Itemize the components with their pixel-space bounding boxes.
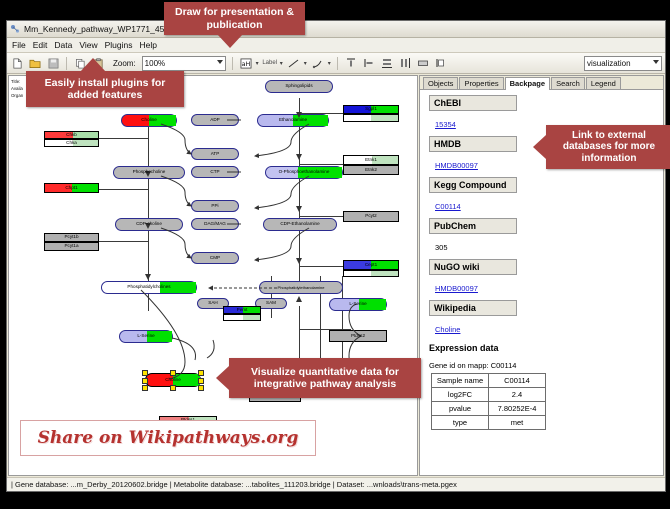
- chevron-down-icon: [217, 60, 223, 64]
- node-label: Ethanolamine: [279, 118, 307, 123]
- node-label: Etnk2: [365, 168, 377, 173]
- line-icon[interactable]: [287, 56, 301, 70]
- db-header-pubchem: PubChem: [429, 218, 517, 234]
- menu-edit[interactable]: Edit: [33, 40, 48, 50]
- callout-draw-arrow: [217, 34, 243, 48]
- cell-value: 7.80252E-4: [489, 402, 546, 416]
- node-label: Choline: [141, 118, 157, 123]
- chevron-down-icon-arc[interactable]: ▾: [328, 60, 331, 67]
- cell-label: Sample name: [432, 374, 489, 388]
- callout-links: Link to external databases for more info…: [546, 125, 670, 169]
- cell-label: log2FC: [432, 388, 489, 402]
- arc-icon[interactable]: [311, 56, 325, 70]
- callout-visualize: Visualize quantitative data for integrat…: [229, 358, 421, 398]
- tab-legend[interactable]: Legend: [586, 77, 621, 89]
- node-label: O-Phosphoethanolamine: [279, 170, 330, 175]
- node-label: ADP: [210, 118, 219, 123]
- callout-visualize-arrow: [216, 366, 229, 390]
- group-icon[interactable]: [416, 56, 430, 70]
- label-icon[interactable]: Label: [263, 56, 277, 70]
- pathway-canvas[interactable]: Title: Availa Organ: [8, 75, 418, 476]
- node-label: Chka: [66, 141, 77, 146]
- tab-backpage[interactable]: Backpage: [505, 77, 550, 90]
- cell-label: type: [432, 416, 489, 430]
- node-label: Chpt1: [65, 186, 77, 191]
- chevron-down-icon-visualization: [653, 60, 659, 64]
- db-header-wikipedia: Wikipedia: [429, 300, 517, 316]
- db-link-chebi[interactable]: 15354: [435, 120, 456, 129]
- align-left-icon[interactable]: [362, 56, 376, 70]
- menu-help[interactable]: Help: [140, 40, 157, 50]
- status-text: | Gene database: ...m_Derby_20120602.bri…: [11, 480, 457, 489]
- callout-links-arrow: [533, 135, 546, 159]
- node-label: Phosphocholine: [133, 170, 166, 175]
- save-icon[interactable]: [46, 56, 60, 70]
- callout-share: Share on Wikipathways.org: [20, 420, 316, 456]
- chevron-down-icon-text[interactable]: ▾: [256, 60, 259, 67]
- menu-file[interactable]: File: [12, 40, 26, 50]
- tab-objects[interactable]: Objects: [423, 77, 458, 89]
- db-link-kegg[interactable]: C00114: [435, 202, 461, 211]
- toolbar-separator-2: [232, 57, 233, 70]
- node-label: Phosphatidylethanolamine: [278, 286, 325, 290]
- node-label: Ptdss2: [351, 334, 365, 339]
- toolbar-separator-3: [337, 57, 338, 70]
- db-link-nugo[interactable]: HMDB00097: [435, 284, 478, 293]
- callout-plugins: Easily install plugins for added feature…: [26, 71, 184, 107]
- align-top-icon[interactable]: [344, 56, 358, 70]
- resize-handle[interactable]: [198, 370, 204, 376]
- text-icon[interactable]: aH: [239, 56, 253, 70]
- share-text: Share on Wikipathways.org: [38, 428, 299, 448]
- svg-text:aH: aH: [241, 59, 250, 67]
- node-label: Chkb: [66, 133, 77, 138]
- new-icon[interactable]: [10, 56, 24, 70]
- side-panel-tabs: Objects Properties Backpage Search Legen…: [420, 76, 663, 90]
- callout-plugins-arrow: [80, 58, 106, 72]
- node-label: PPi: [211, 204, 218, 209]
- table-row: pvalue 7.80252E-4: [432, 402, 546, 416]
- resize-handle[interactable]: [198, 385, 204, 391]
- resize-handle[interactable]: [142, 378, 148, 384]
- db-link-wikipedia[interactable]: Choline: [435, 325, 460, 334]
- distribute-horizontal-icon[interactable]: [398, 56, 412, 70]
- cell-label: pvalue: [432, 402, 489, 416]
- node-label: Pcyt2: [365, 214, 377, 219]
- zoom-select[interactable]: 100%: [142, 56, 226, 71]
- tab-properties[interactable]: Properties: [459, 77, 503, 89]
- node-label: SAM: [266, 301, 276, 306]
- node-label: CTP: [210, 170, 219, 175]
- menu-view[interactable]: View: [79, 40, 97, 50]
- resize-handle[interactable]: [170, 370, 176, 376]
- resize-handle[interactable]: [142, 370, 148, 376]
- resize-handle[interactable]: [142, 385, 148, 391]
- node-label: L-Serine: [137, 334, 154, 339]
- table-row: log2FC 2.4: [432, 388, 546, 402]
- node-label: Pemt: [237, 308, 248, 313]
- callout-draw: Draw for presentation & publication: [164, 2, 305, 35]
- node-label: CMP: [210, 256, 220, 261]
- distribute-vertical-icon[interactable]: [380, 56, 394, 70]
- chevron-down-icon-line[interactable]: ▾: [304, 60, 307, 67]
- chevron-down-icon-label[interactable]: ▾: [280, 60, 283, 67]
- db-header-chebi: ChEBI: [429, 95, 517, 111]
- node-label: Choline: [165, 378, 181, 383]
- cell-value: C00114: [489, 374, 546, 388]
- node-label: CDP-choline: [136, 222, 162, 227]
- db-value-pubchem: 305: [435, 243, 448, 252]
- node-label: ATP: [211, 152, 220, 157]
- table-row: type met: [432, 416, 546, 430]
- visualization-select[interactable]: visualization: [584, 56, 662, 71]
- screenshot-root: Mm_Kennedy_pathway_WP1771_45176.gpml Fil…: [0, 0, 670, 509]
- node-label: L-Serine: [349, 302, 366, 307]
- node-label: Pcyt1b: [64, 235, 78, 240]
- tab-search[interactable]: Search: [551, 77, 585, 89]
- node-label: Pcyt1a: [64, 244, 78, 249]
- node-label: Sphingolipids: [285, 84, 312, 89]
- db-header-nugo: NuGO wiki: [429, 259, 517, 275]
- pathvisio-icon: [10, 24, 20, 34]
- menu-data[interactable]: Data: [54, 40, 72, 50]
- cell-value: 2.4: [489, 388, 546, 402]
- cell-value: met: [489, 416, 546, 430]
- node-label: Phosphatidylcholines: [127, 285, 170, 290]
- table-row: Sample name C00114: [432, 374, 546, 388]
- resize-handle[interactable]: [170, 385, 176, 391]
- node-label: CDP-Ethanolamine: [280, 222, 319, 227]
- db-link-hmdb[interactable]: HMDB00097: [435, 161, 478, 170]
- zoom-value: 100%: [145, 59, 165, 68]
- title-bar: Mm_Kennedy_pathway_WP1771_45176.gpml: [7, 21, 665, 38]
- node-label: SAH: [208, 301, 217, 306]
- node-label: Etnk1: [365, 158, 377, 163]
- menu-bar: File Edit Data View Plugins Help: [7, 38, 665, 53]
- status-bar: | Gene database: ...m_Derby_20120602.bri…: [7, 477, 665, 491]
- db-header-kegg: Kegg Compound: [429, 177, 517, 193]
- expression-data-heading: Expression data: [429, 343, 663, 353]
- menu-plugins[interactable]: Plugins: [105, 40, 133, 50]
- node-label: DAG/MAG: [204, 222, 226, 227]
- open-icon[interactable]: [28, 56, 42, 70]
- zoom-label: Zoom:: [113, 59, 136, 68]
- expression-table: Sample name C00114 log2FC 2.4 pvalue 7.8…: [431, 373, 546, 430]
- node-label: Sgpl1: [365, 107, 377, 112]
- db-header-hmdb: HMDB: [429, 136, 517, 152]
- stack-icon[interactable]: [434, 56, 448, 70]
- gene-id-line: Gene id on mapp: C00114: [429, 361, 663, 370]
- visualization-value: visualization: [587, 59, 631, 68]
- toolbar-separator: [66, 57, 67, 70]
- resize-handle[interactable]: [198, 378, 204, 384]
- node-label: Cept1: [365, 263, 377, 268]
